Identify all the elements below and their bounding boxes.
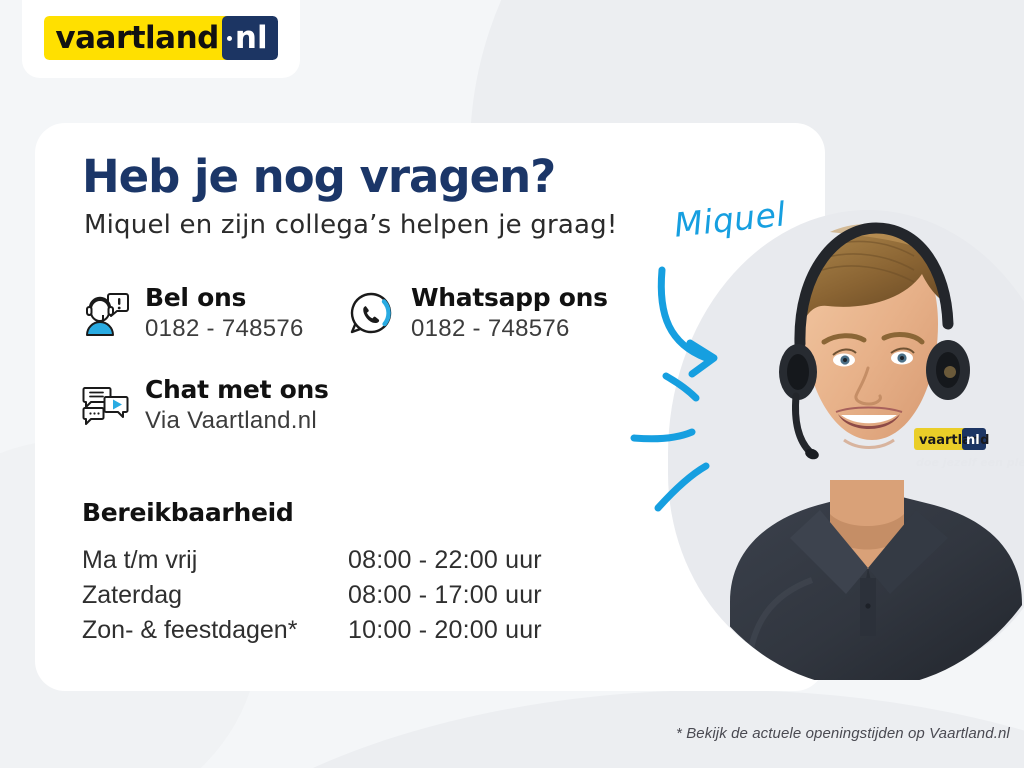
- hours-day: Ma t/m vrij: [82, 543, 348, 578]
- logo-tld-text: nl: [235, 16, 268, 60]
- contact-title-call: Bel ons: [145, 283, 246, 312]
- logo-tld-badge: nl: [222, 16, 278, 60]
- hours-day: Zaterdag: [82, 578, 348, 613]
- page-title: Heb je nog vragen?: [82, 150, 555, 203]
- hours-time: 08:00 - 17:00 uur: [348, 578, 542, 613]
- table-row: Ma t/m vrij 08:00 - 22:00 uur: [82, 543, 542, 578]
- headset-person-icon: [79, 287, 131, 339]
- hours-table: Ma t/m vrij 08:00 - 22:00 uur Zaterdag 0…: [82, 543, 542, 648]
- footnote-text: * Bekijk de actuele openingstijden op Va…: [676, 725, 1010, 742]
- table-row: Zaterdag 08:00 - 17:00 uur: [82, 578, 542, 613]
- svg-text:doe jezelf een plezier: doe jezelf een plezier: [916, 456, 1024, 469]
- promo-banner: vaartland nl Heb je nog vragen? Miquel e…: [0, 0, 1024, 768]
- contact-text-whatsapp: Whatsapp ons 0182 - 748576: [411, 283, 608, 345]
- svg-text:nl: nl: [966, 433, 980, 448]
- whatsapp-icon: [345, 287, 397, 339]
- logo-container[interactable]: vaartland nl: [22, 0, 300, 78]
- contact-value-whatsapp: 0182 - 748576: [411, 315, 570, 342]
- hours-heading: Bereikbaarheid: [82, 498, 293, 527]
- chat-bubbles-icon: [79, 379, 131, 431]
- hours-day: Zon- & feestdagen*: [82, 613, 348, 648]
- contact-block-chat[interactable]: Chat met ons Via Vaartland.nl: [79, 375, 329, 437]
- hours-time: 10:00 - 20:00 uur: [348, 613, 542, 648]
- contact-text-chat: Chat met ons Via Vaartland.nl: [145, 375, 329, 437]
- page-subtitle: Miquel en zijn collega’s helpen je graag…: [84, 210, 617, 240]
- contact-title-whatsapp: Whatsapp ons: [411, 283, 608, 312]
- agent-photo-area: vaartland nl doe jezelf een plezier Miqu…: [612, 118, 1024, 678]
- contact-title-chat: Chat met ons: [145, 375, 329, 404]
- contact-value-chat: Via Vaartland.nl: [145, 407, 317, 434]
- vaartland-logo: vaartland nl: [44, 16, 277, 60]
- contact-value-call: 0182 - 748576: [145, 315, 304, 342]
- logo-separator-dot: [227, 36, 232, 41]
- table-row: Zon- & feestdagen* 10:00 - 20:00 uur: [82, 613, 542, 648]
- contact-block-call[interactable]: Bel ons 0182 - 748576: [79, 283, 304, 345]
- hours-time: 08:00 - 22:00 uur: [348, 543, 542, 578]
- contact-block-whatsapp[interactable]: Whatsapp ons 0182 - 748576: [345, 283, 608, 345]
- logo-wordmark: vaartland: [44, 16, 227, 60]
- contact-text-call: Bel ons 0182 - 748576: [145, 283, 304, 345]
